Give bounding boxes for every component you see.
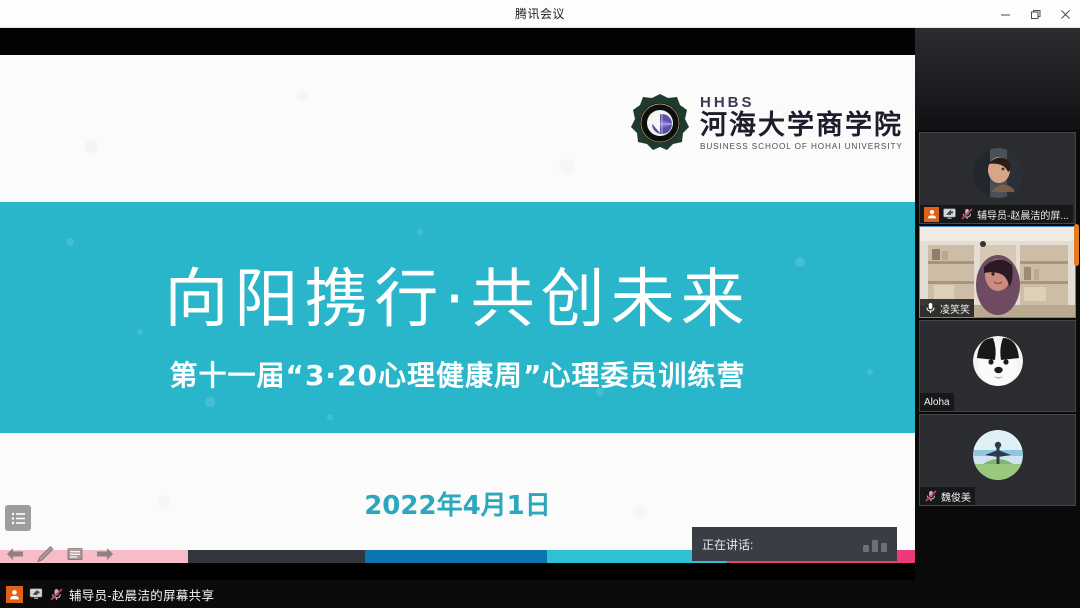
panel-header-area bbox=[915, 28, 1080, 130]
window-controls bbox=[990, 0, 1080, 28]
user-badge-icon bbox=[6, 586, 23, 603]
screen-share-icon bbox=[28, 587, 44, 601]
school-logo: HHBS 河海大学商学院 BUSINESS SCHOOL OF HOHAI UN… bbox=[630, 93, 903, 153]
screen-share-statusbar: 辅导员-赵晨洁的屏幕共享 bbox=[0, 580, 1080, 608]
close-button[interactable] bbox=[1050, 0, 1080, 28]
participant-name: 魏俊美 bbox=[941, 489, 971, 504]
participant-tile[interactable]: 辅导员-赵晨洁的屏... bbox=[919, 132, 1076, 224]
avatar bbox=[973, 148, 1023, 198]
window-titlebar: 腾讯会议 bbox=[0, 0, 1080, 28]
mic-on-icon bbox=[924, 301, 937, 315]
restore-button[interactable] bbox=[1020, 0, 1050, 28]
mic-muted-icon bbox=[960, 207, 974, 221]
tencent-meeting-window: 腾讯会议 bbox=[0, 0, 1080, 608]
avatar bbox=[973, 336, 1023, 386]
slide-subtitle: 第十一届“3·20心理健康周”心理委员训练营 bbox=[0, 354, 915, 394]
slide-menu-icon[interactable] bbox=[66, 545, 84, 563]
mic-muted-icon bbox=[49, 587, 64, 602]
speaking-label: 正在讲话: bbox=[702, 536, 753, 553]
participant-namebar: 凌笑笑 bbox=[920, 299, 974, 317]
participant-namebar: Aloha bbox=[920, 393, 954, 411]
speaking-toast: 正在讲话: bbox=[692, 527, 897, 561]
screen-share-icon bbox=[942, 207, 957, 221]
presentation-slide: HHBS 河海大学商学院 BUSINESS SCHOOL OF HOHAI UN… bbox=[0, 55, 915, 563]
rail-segment bbox=[365, 550, 547, 563]
screen-share-label: 辅导员-赵晨洁的屏幕共享 bbox=[69, 585, 214, 604]
participant-namebar: 辅导员-赵晨洁的屏... bbox=[920, 205, 1073, 223]
hohai-emblem-icon bbox=[630, 93, 690, 153]
logo-english-name: BUSINESS SCHOOL OF HOHAI UNIVERSITY bbox=[700, 143, 903, 151]
participant-panel[interactable]: 辅导员-赵晨洁的屏... bbox=[915, 28, 1080, 580]
participant-name: 辅导员-赵晨洁的屏... bbox=[977, 207, 1069, 222]
slide-main-title: 向阳携行·共创未来 bbox=[0, 248, 915, 340]
participant-namebar: 魏俊美 bbox=[920, 487, 975, 505]
logo-chinese-name: 河海大学商学院 bbox=[700, 112, 903, 139]
annotate-pen-icon[interactable] bbox=[36, 545, 54, 563]
audio-level-icon bbox=[863, 536, 887, 552]
participant-name: 凌笑笑 bbox=[940, 301, 970, 316]
shared-screen-stage[interactable]: HHBS 河海大学商学院 BUSINESS SCHOOL OF HOHAI UN… bbox=[0, 28, 915, 580]
participant-tile[interactable]: 魏俊美 bbox=[919, 414, 1076, 506]
participant-tile[interactable]: 凌笑笑 bbox=[919, 226, 1076, 318]
window-title: 腾讯会议 bbox=[515, 5, 565, 22]
slide-list-button[interactable] bbox=[5, 505, 31, 531]
rail-segment bbox=[188, 550, 365, 563]
next-slide-icon[interactable] bbox=[96, 545, 114, 563]
stage-top-letterbox bbox=[0, 28, 915, 55]
slide-banner: 向阳携行·共创未来 第十一届“3·20心理健康周”心理委员训练营 bbox=[0, 202, 915, 433]
minimize-button[interactable] bbox=[990, 0, 1020, 28]
host-badge-icon bbox=[924, 207, 939, 222]
participant-tile[interactable]: Aloha bbox=[919, 320, 1076, 412]
participant-name: Aloha bbox=[924, 397, 950, 408]
logo-abbreviation: HHBS bbox=[700, 95, 903, 110]
avatar bbox=[973, 430, 1023, 480]
previous-slide-icon[interactable] bbox=[6, 545, 24, 563]
slide-date: 2022年4月1日 bbox=[0, 485, 915, 522]
participant-panel-scrollbar[interactable] bbox=[1074, 224, 1079, 266]
presenter-controls bbox=[6, 545, 114, 563]
mic-muted-icon bbox=[924, 489, 938, 503]
